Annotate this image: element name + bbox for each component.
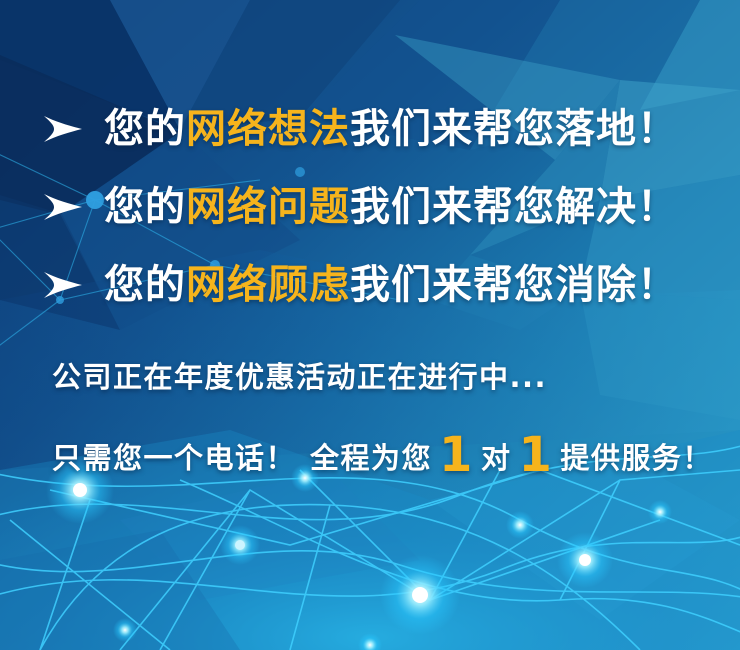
headline-highlight-1: 网络想法 [186,106,350,152]
headline-suffix-3: 我们来帮您消除！ [350,262,678,308]
service-middle: 全程为您 [310,444,432,473]
headline-text-1: 您的网络想法我们来帮您落地！ [104,109,678,149]
banner-content: 您的网络想法我们来帮您落地！ 您的网络问题我们来帮您解决！ 您的网络顾虑我们来帮… [0,0,740,650]
promo-banner: 您的网络想法我们来帮您落地！ 您的网络问题我们来帮您解决！ 您的网络顾虑我们来帮… [0,0,740,650]
service-lead: 只需您一个电话！ [52,444,296,473]
headline-highlight-2: 网络问题 [186,184,350,230]
service-connector: 对 [481,444,512,473]
headline-suffix-2: 我们来帮您解决！ [350,184,678,230]
service-number-first: 1 [432,431,481,479]
headline-row-3: 您的网络顾虑我们来帮您消除！ [40,264,678,306]
arrow-right-icon [40,186,86,228]
service-tail: 提供服务！ [560,444,713,473]
headline-row-1: 您的网络想法我们来帮您落地！ [40,108,678,150]
service-subline: 只需您一个电话！ 全程为您 1 对 1 提供服务！ [52,428,713,476]
headline-text-2: 您的网络问题我们来帮您解决！ [104,187,678,227]
headline-prefix-1: 您的 [104,106,186,152]
arrow-right-icon [40,108,86,150]
headline-prefix-2: 您的 [104,184,186,230]
headline-prefix-3: 您的 [104,262,186,308]
arrow-right-icon [40,264,86,306]
headline-highlight-3: 网络顾虑 [186,262,350,308]
headline-suffix-1: 我们来帮您落地！ [350,106,678,152]
service-number-second: 1 [511,431,560,479]
headline-text-3: 您的网络顾虑我们来帮您消除！ [104,265,678,305]
headline-row-2: 您的网络问题我们来帮您解决！ [40,186,678,228]
promo-subline: 公司正在年度优惠活动正在进行中... [52,363,547,392]
